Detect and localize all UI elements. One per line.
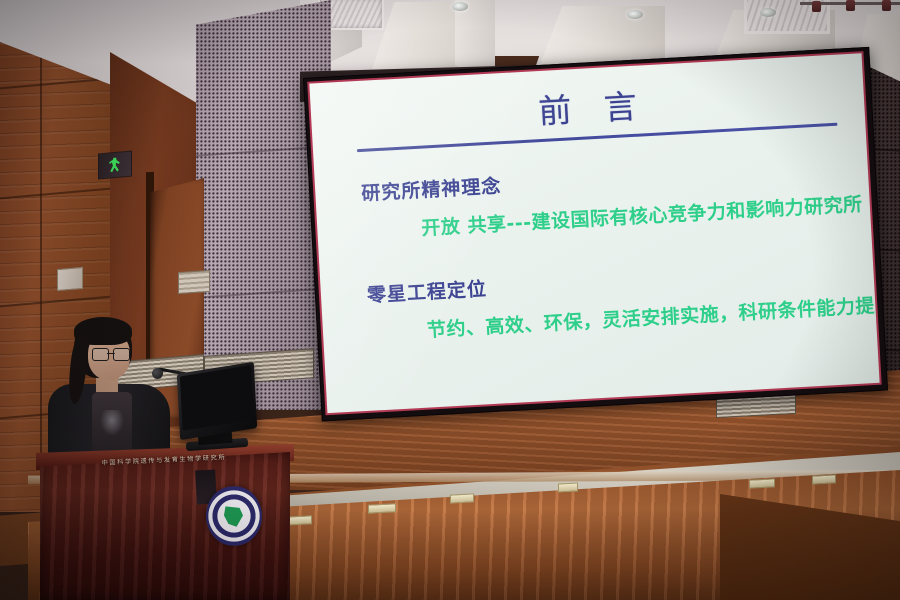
wall-switch-plate[interactable] — [178, 270, 210, 294]
wood-seam — [0, 187, 122, 200]
slide-body-2: 节约、高效、环保，灵活安排实施，科研条件能力提升 — [426, 290, 879, 343]
wall-panel-plate — [57, 267, 83, 291]
exit-sign — [98, 151, 132, 180]
booklet[interactable] — [558, 482, 578, 492]
slide-title: 前 言 — [310, 67, 865, 145]
wood-seam-vertical — [40, 42, 42, 512]
speaker-shirt-print — [100, 410, 124, 436]
wood-seam — [0, 295, 122, 308]
booklet[interactable] — [368, 503, 396, 513]
computer-monitor-icon[interactable] — [177, 362, 258, 440]
track-lamp-1 — [812, 1, 821, 12]
booklet[interactable] — [812, 474, 836, 484]
slide-heading-2: 零星工程定位 — [366, 274, 487, 308]
booklet[interactable] — [749, 478, 775, 488]
speaker-glasses — [92, 348, 130, 359]
booklet[interactable] — [450, 493, 474, 503]
recessed-downlight-icon-1 — [452, 2, 468, 11]
running-man-exit-icon — [109, 157, 122, 173]
microphone-icon — [152, 368, 163, 379]
presentation-slide: 前 言 研究所精神理念 开放 共享---建设国际有核心竞争力和影响力研究所 零星… — [309, 53, 879, 413]
track-lamp-3 — [882, 0, 891, 11]
slide-heading-1: 研究所精神理念 — [361, 171, 502, 206]
projection-screen: 前 言 研究所精神理念 开放 共享---建设国际有核心竞争力和影响力研究所 零星… — [303, 47, 886, 420]
recessed-downlight-icon-3 — [760, 8, 776, 17]
monitor-screen — [180, 365, 254, 430]
acoustic-seam — [196, 287, 331, 298]
recessed-downlight-icon-2 — [627, 10, 643, 19]
lecture-hall-scene: 前 言 研究所精神理念 开放 共享---建设国际有核心竞争力和影响力研究所 零星… — [0, 0, 900, 600]
track-lamp-2 — [846, 0, 855, 11]
